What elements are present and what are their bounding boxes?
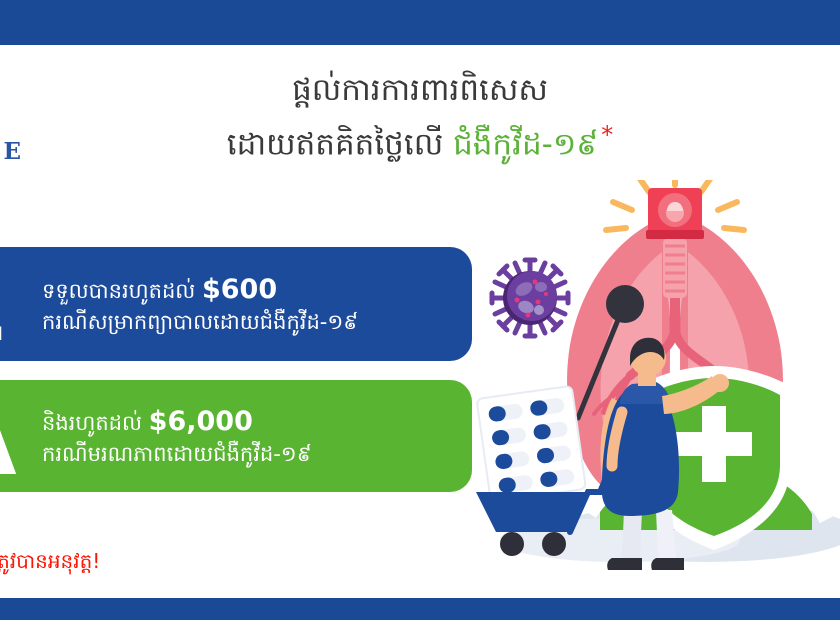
benefit-amount-2: $6,000 <box>149 406 253 437</box>
coronavirus-particle-icon <box>492 260 568 336</box>
title-asterisk: * <box>601 121 613 149</box>
benefit-line1-prefix-1: ទទួលបានរហូតដល់ <box>42 279 195 303</box>
title-covid-highlight: ជំងឺកូវីដ-១៩ <box>453 126 598 162</box>
pill-blister-pack-icon <box>476 386 586 502</box>
benefit-banner-hospitalization: 1 ទទួលបានរហូតដល់ $600 ករណីសម្រាកព្យាបាលដ… <box>0 247 472 361</box>
benefit-line1-prefix-2: និងរហូតដល់ <box>42 411 142 435</box>
infographic-canvas: E ផ្តល់ការការពារពិសេស ដោយឥតគិតថ្លៃលើ ជំង… <box>0 0 840 620</box>
alarm-siren-icon <box>606 180 744 239</box>
title-line-1: ផ្តល់ការការពារពិសេស <box>110 68 730 112</box>
benefit-banner-death: A និងរហូតដល់ $6,000 ករណីមរណភាពដោយជំងឺកូវ… <box>0 380 472 492</box>
benefit-amount-row-1: ទទួលបានរហូតដល់ $600 <box>42 271 358 308</box>
benefit-line2-1: ករណីសម្រាកព្យាបាលដោយជំងឺកូវីដ-១៩ <box>42 308 358 337</box>
title-line-2: ដោយឥតគិតថ្លៃលើ ជំងឺកូវីដ-១៩* <box>110 118 730 166</box>
title-line-2-prefix: ដោយឥតគិតថ្លៃលើ <box>227 126 443 162</box>
logo-letter: E <box>3 140 20 163</box>
top-blue-bar <box>0 0 840 45</box>
benefit-text-2: និងរហូតដល់ $6,000 ករណីមរណភាពដោយជំងឺកូវីដ… <box>42 403 312 469</box>
bottom-blue-bar <box>0 598 840 620</box>
benefit-badge-letter-2: A <box>0 380 13 492</box>
page-title: ផ្តល់ការការពារពិសេស ដោយឥតគិតថ្លៃលើ ជំងឺក… <box>110 68 730 166</box>
terms-footnote: ខណ្ឌត្រូវបានអនុវត្ត! <box>0 548 100 578</box>
company-logo: E <box>0 137 20 165</box>
benefit-line2-2: ករណីមរណភាពដោយជំងឺកូវីដ-១៩ <box>42 440 312 469</box>
benefit-text-1: ទទួលបានរហូតដល់ $600 ករណីសម្រាកព្យាបាលដោយ… <box>42 271 358 337</box>
benefit-amount-1: $600 <box>202 274 277 305</box>
medical-illustration <box>470 180 840 590</box>
benefit-badge-letter-1: 1 <box>0 252 4 356</box>
benefit-amount-row-2: និងរហូតដល់ $6,000 <box>42 403 312 440</box>
